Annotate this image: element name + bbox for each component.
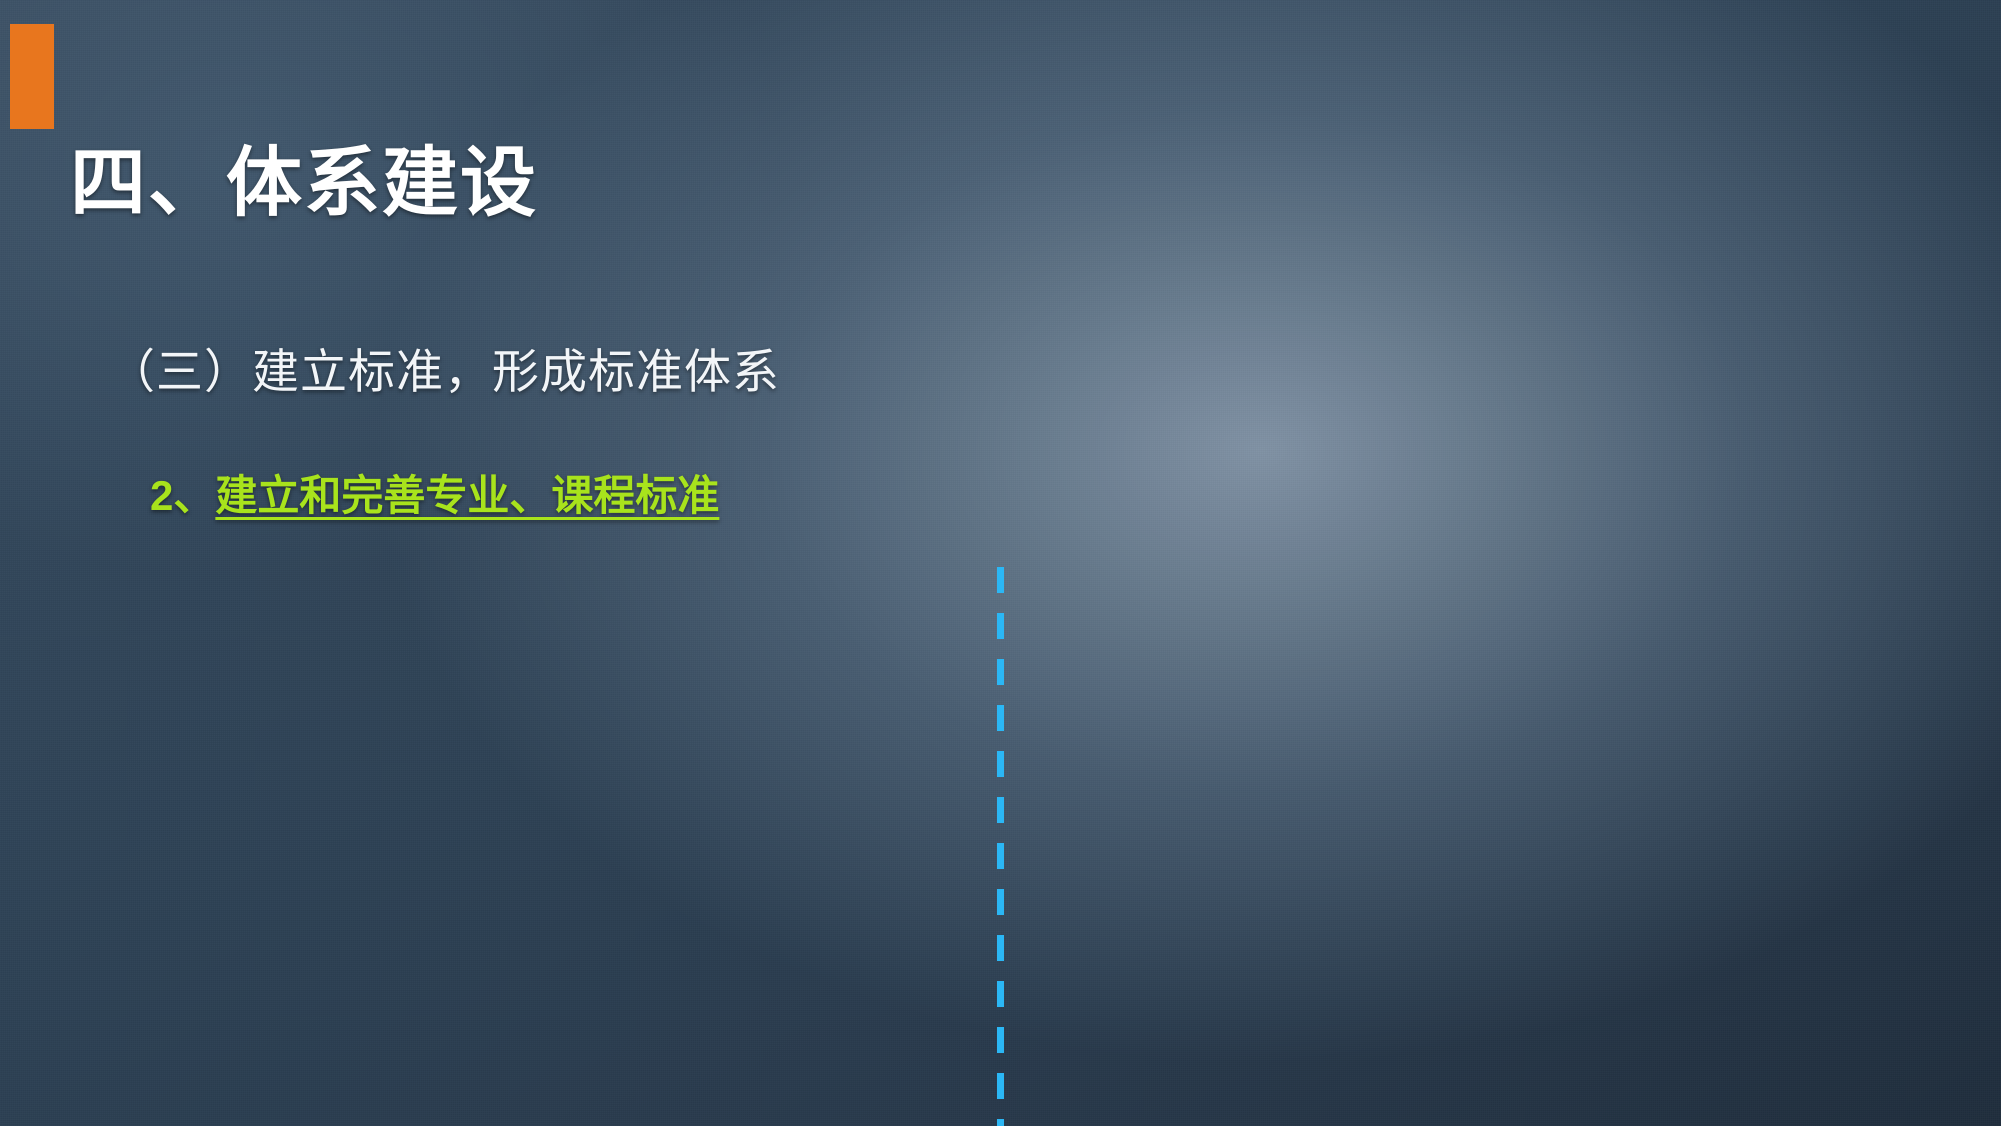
page-title: 四、体系建设 <box>70 121 2001 231</box>
vertical-dashed-divider <box>997 567 1004 1126</box>
section-heading: 2、建立和完善专业、课程标准 <box>150 462 2001 523</box>
orange-accent-bar <box>10 24 54 129</box>
page-subtitle: （三）建立标准，形成标准体系 <box>108 333 2001 402</box>
slide-canvas: 四、体系建设 （三）建立标准，形成标准体系 2、建立和完善专业、课程标准 教务处… <box>0 0 2001 1126</box>
section-heading-number: 2、 <box>150 472 215 519</box>
section-heading-text: 建立和完善专业、课程标准 <box>215 472 719 519</box>
